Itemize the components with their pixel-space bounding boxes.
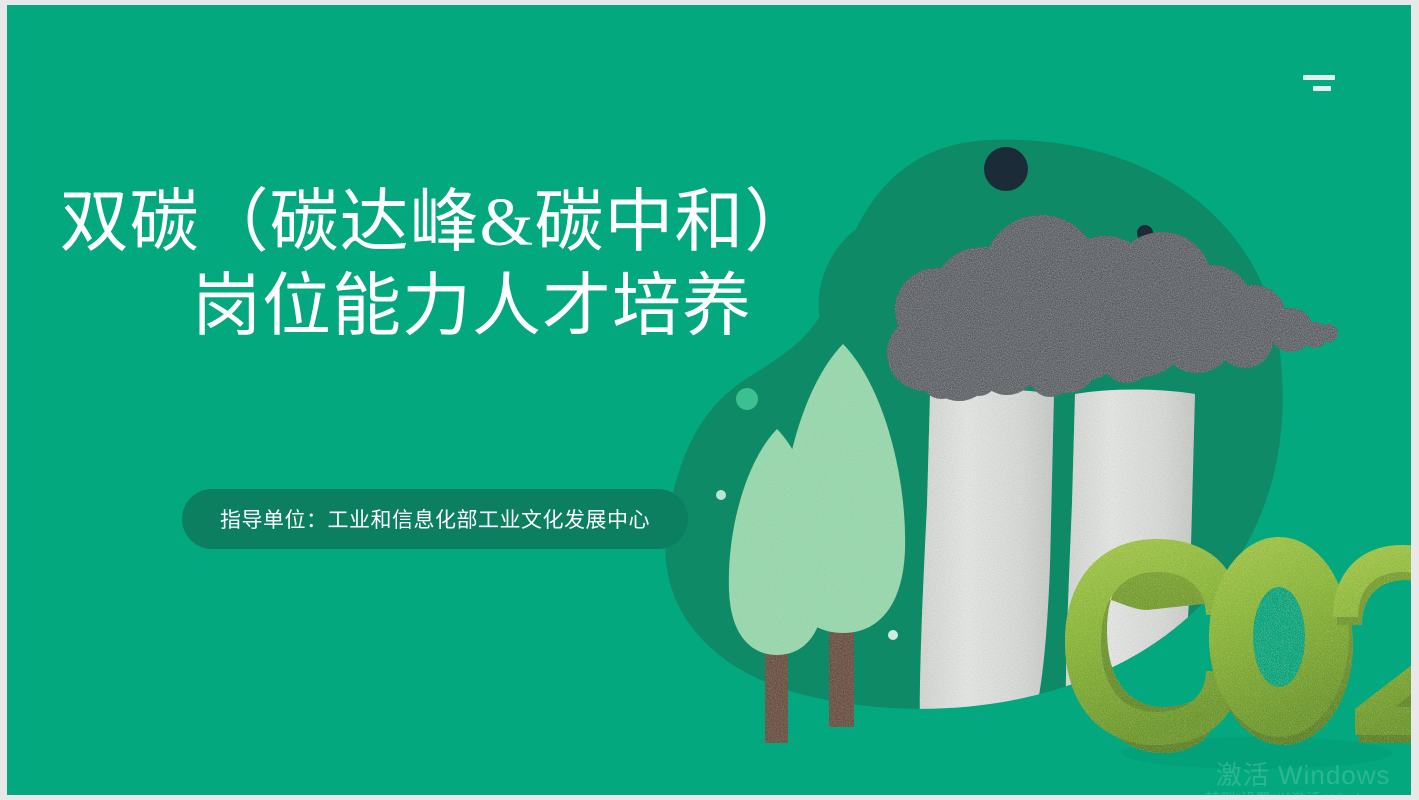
illustration-carbon-scene [7, 5, 1411, 795]
status-badge: 指导单位：工业和信息化部工业文化发展中心 [182, 489, 688, 549]
align-left-icon[interactable] [1303, 67, 1339, 91]
align-icon-bar-top [1303, 75, 1335, 80]
align-icon-bar-bottom [1313, 86, 1331, 91]
presentation-slide: 双碳（碳达峰&碳中和） 岗位能力人才培养 指导单位：工业和信息化部工业文化发展中… [7, 5, 1411, 795]
organization-label: 指导单位：工业和信息化部工业文化发展中心 [220, 504, 650, 534]
cooling-tower-left [920, 390, 1054, 724]
